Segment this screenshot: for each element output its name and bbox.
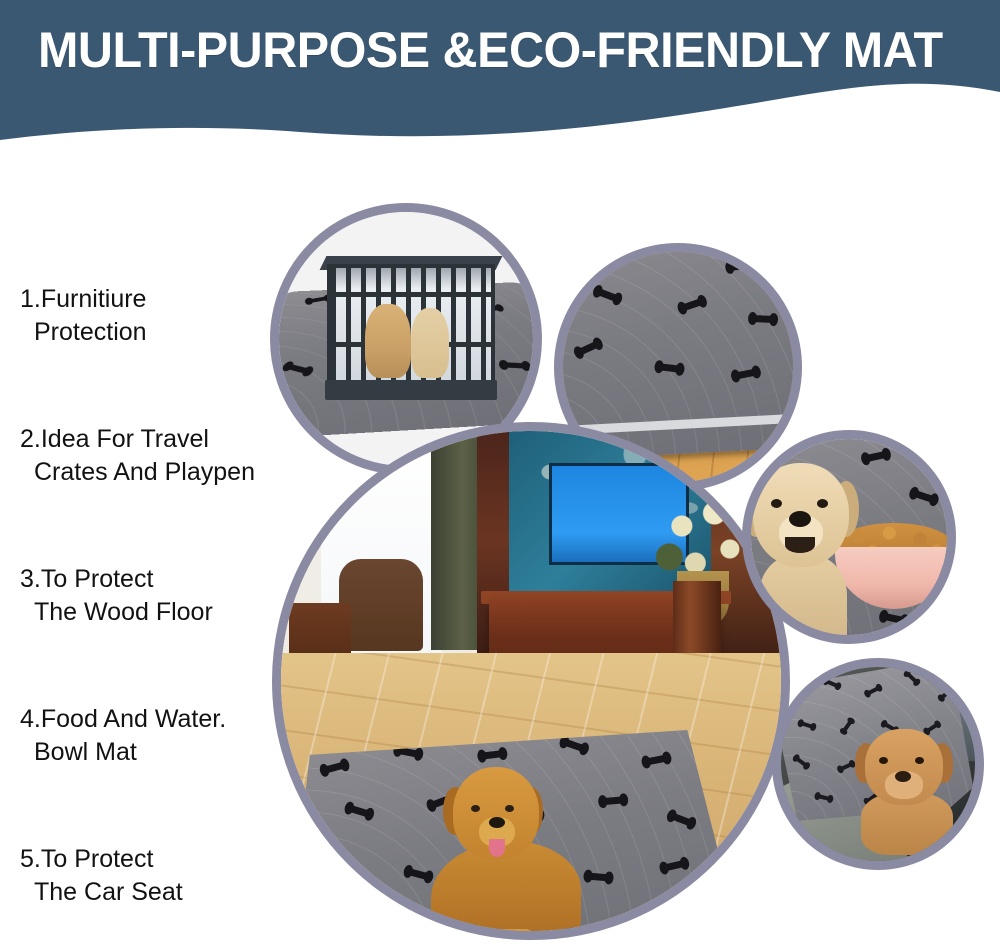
dog-paw-left	[439, 929, 485, 931]
dog-nose	[789, 511, 811, 527]
feature-2-text1: Idea For Travel	[41, 425, 209, 453]
crate-dog	[365, 304, 411, 378]
food-bowl-scene	[751, 439, 947, 635]
dog-nose	[489, 817, 505, 828]
feature-5-text1: To Protect	[41, 845, 154, 873]
feature-4-line2: Bowl Mat	[20, 736, 226, 769]
car-seat-scene	[781, 667, 975, 861]
dog-mouth	[785, 537, 815, 553]
feature-3-line2: The Wood Floor	[20, 596, 213, 629]
dog-body	[759, 555, 847, 635]
feature-item-3: 3.To Protect The Wood Floor	[20, 530, 213, 662]
feature-4-text1: Food And Water.	[41, 705, 226, 733]
puppy-eye-left	[879, 757, 888, 764]
crate-dog-second	[411, 308, 449, 378]
golden-retriever-dog	[751, 463, 863, 635]
golden-retriever-dog	[431, 767, 581, 931]
dog-eye-left	[471, 805, 480, 812]
feature-item-2: 2.Idea For Travel Crates And Playpen	[20, 390, 255, 522]
page-title: MULTI-PURPOSE &ECO-FRIENDLY MAT	[38, 22, 950, 78]
feature-5-number: 5.	[20, 845, 41, 873]
feature-1-line1: 1.	[20, 285, 41, 313]
photo-dog-with-food-bowl	[742, 430, 956, 644]
feature-5-line2: The Car Seat	[20, 876, 183, 909]
puppy-nose	[895, 771, 911, 782]
dog-tongue	[489, 839, 505, 857]
feature-item-5: 5.To Protect The Car Seat	[20, 810, 183, 942]
crate-body	[327, 264, 495, 386]
puppy-eye-right	[915, 757, 924, 764]
product-infographic: MULTI-PURPOSE &ECO-FRIENDLY MAT 1.Furnit…	[0, 0, 1000, 946]
living-room-scene	[281, 431, 781, 931]
feature-2-line2: Crates And Playpen	[20, 456, 255, 489]
feature-1-line2: Protection	[20, 316, 147, 349]
room-armchair	[339, 559, 423, 651]
feature-3-text1: To Protect	[41, 565, 154, 593]
dog-eye-right	[817, 499, 828, 508]
photo-living-room-mat	[272, 422, 790, 940]
dog-eye-right	[505, 805, 514, 812]
header-banner: MULTI-PURPOSE &ECO-FRIENDLY MAT	[0, 0, 1000, 150]
feature-2-number: 2.	[20, 425, 41, 453]
feature-1-text1: Furnitiure	[41, 285, 147, 313]
feature-4-number: 4.	[20, 705, 41, 733]
dog-paw-right	[489, 929, 535, 931]
feature-item-4: 4.Food And Water. Bowl Mat	[20, 670, 226, 802]
bulldog-puppy	[855, 729, 965, 853]
feature-3-number: 3.	[20, 565, 41, 593]
crate-base-tray	[325, 380, 497, 400]
feature-item-1: 1.Furnitiure Protection	[20, 250, 147, 382]
dog-eye-left	[771, 499, 782, 508]
photo-puppy-on-car-seat	[772, 658, 984, 870]
